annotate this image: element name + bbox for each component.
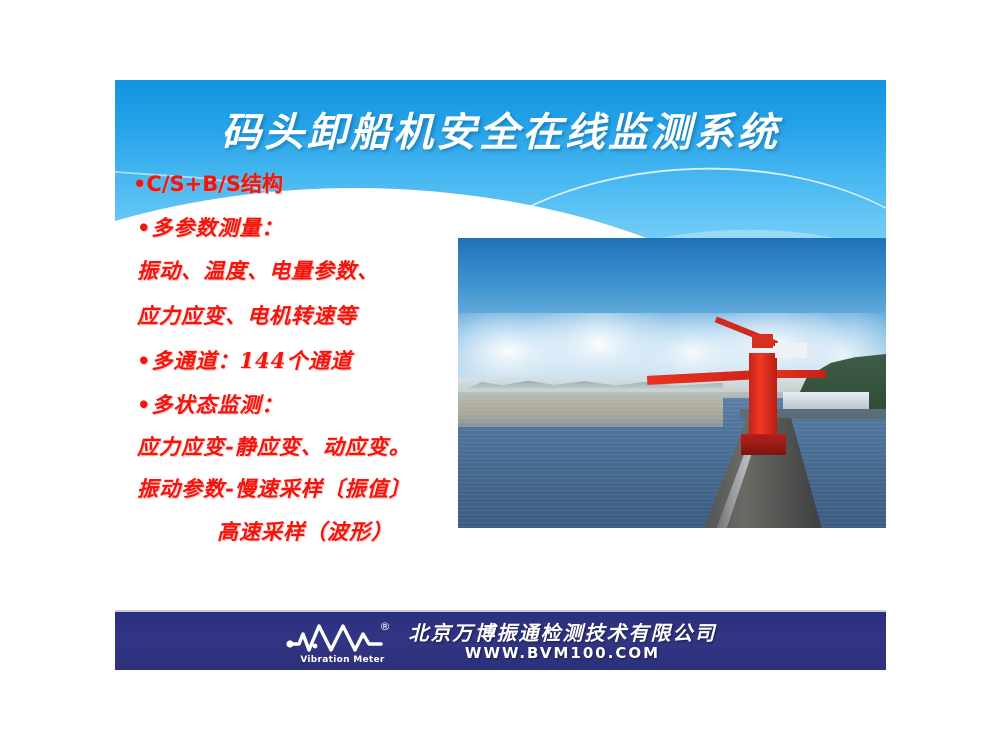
body-line-1: •C/S+B/S结构 [133, 168, 283, 198]
presentation-slide: 码头卸船机安全在线监测系统 •C/S+B/S结构 •多参数测量： 振动、温度、电… [115, 80, 886, 670]
photo-ship-unloader-crane [715, 334, 809, 456]
footer-content: ® Vibration Meter 北京万博振通检测技术有限公司 WWW.BVM… [115, 612, 886, 670]
body-line-4: 应力应变、电机转速等 [137, 300, 357, 330]
company-website-url: WWW.BVM100.COM [409, 644, 717, 662]
slide-footer-bar: ® Vibration Meter 北京万博振通检测技术有限公司 WWW.BVM… [115, 610, 886, 670]
body-line-3: 振动、温度、电量参数、 [137, 255, 379, 285]
body-line-9: 高速采样（波形） [217, 516, 393, 546]
photo-clouds [458, 313, 886, 377]
crane-cab [752, 334, 773, 349]
company-name-cn: 北京万博振通检测技术有限公司 [409, 622, 717, 644]
crane-base [741, 434, 786, 456]
body-line-7: 应力应变-静应变、动应变。 [137, 431, 411, 461]
logo-subtitle: Vibration Meter [293, 655, 393, 665]
vibration-wave-logo-icon: ® Vibration Meter [285, 620, 395, 664]
crane-sign-board [775, 343, 807, 358]
ship-unloader-photo [458, 238, 886, 528]
body-line-8: 振动参数-慢速采样〔振值〕 [137, 473, 411, 503]
registered-trademark-icon: ® [380, 620, 391, 633]
body-line-5: •多通道：144个通道 [137, 345, 352, 375]
crane-boom-right [771, 370, 826, 377]
body-line-6: •多状态监测： [137, 389, 283, 419]
footer-text-block: 北京万博振通检测技术有限公司 WWW.BVM100.COM [409, 622, 717, 662]
body-line-2: •多参数测量： [137, 212, 283, 242]
slide-title: 码头卸船机安全在线监测系统 [115, 100, 886, 158]
